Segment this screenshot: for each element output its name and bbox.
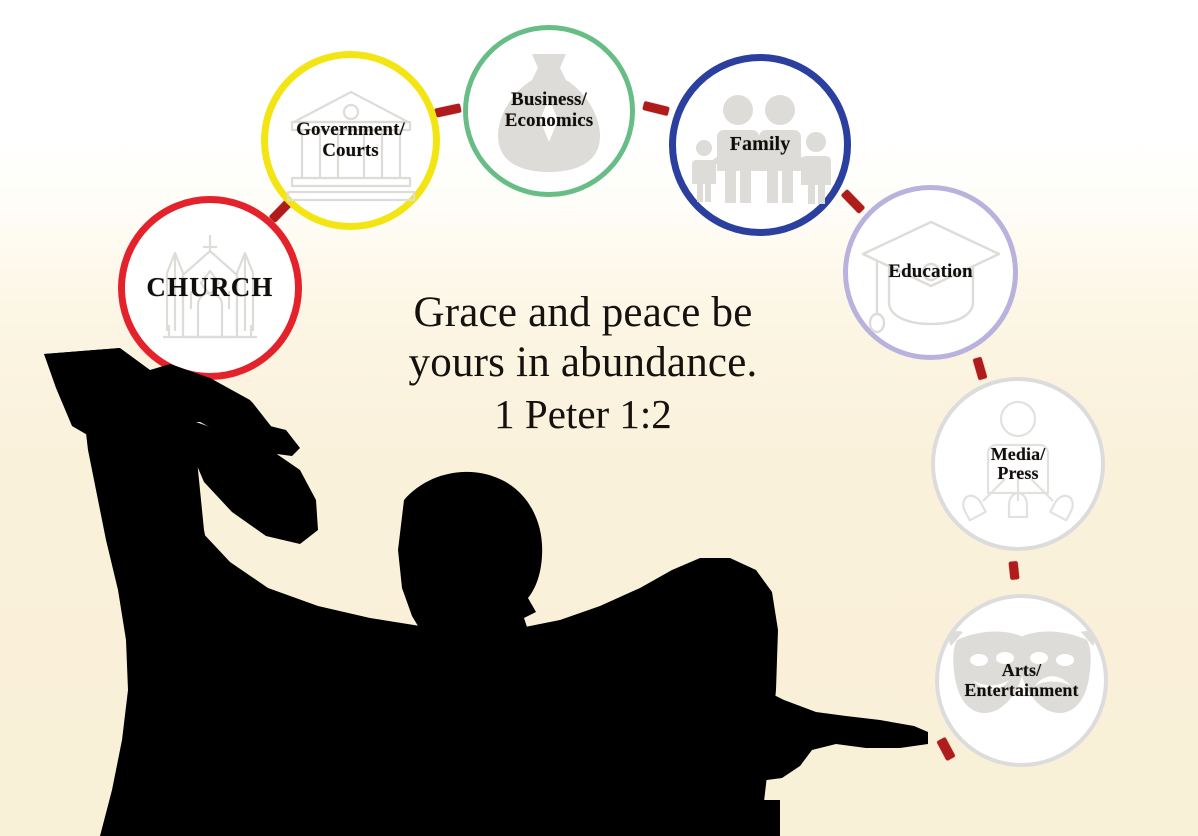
sphere-government-courts-label: Government/ Courts [296,120,405,161]
sphere-government-courts[interactable]: Government/ Courts [261,51,440,230]
sphere-church[interactable]: CHURCH [118,196,302,380]
scripture-reference: 1 Peter 1:2 [318,391,848,439]
sphere-family-label: Family [730,134,791,156]
scripture-quote: Grace and peace be yours in abundance. 1… [318,288,848,439]
connector-media-arts [1009,561,1020,580]
sphere-church-label: CHURCH [146,273,273,302]
sphere-arts-entertainment[interactable]: Arts/ Entertainment [935,594,1108,767]
connector-business-family [642,101,669,116]
sphere-media-press-label: Media/ Press [991,445,1046,484]
sphere-education-label: Education [888,262,972,283]
scripture-line-2: yours in abundance. [318,338,848,388]
connector-education-media [973,357,988,381]
sphere-education[interactable]: Education [843,185,1018,360]
connector-government-business [434,103,461,117]
sphere-business-economics[interactable]: Business/ Economics [463,25,635,197]
sphere-arts-entertainment-label: Arts/ Entertainment [964,661,1078,700]
sphere-family[interactable]: Family [669,54,851,236]
sphere-business-economics-label: Business/ Economics [505,90,594,131]
poster-canvas: CHURCH Government/ Courts [0,0,1198,836]
sphere-media-press[interactable]: Media/ Press [931,377,1105,551]
scripture-line-1: Grace and peace be [318,288,848,338]
connector-arts-pointer [936,737,955,761]
connector-family-education [841,189,866,214]
